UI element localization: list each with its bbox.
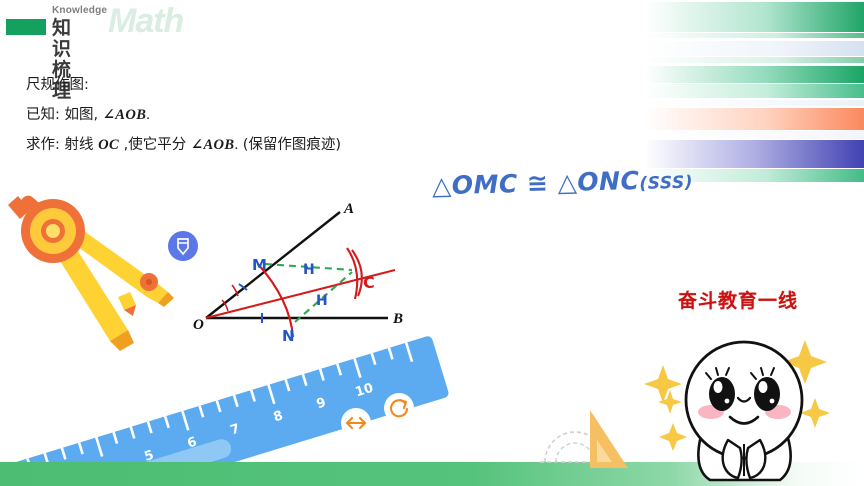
mascot-blush-left [698, 405, 724, 419]
pencil-icon [178, 239, 188, 254]
mascot-mouth [730, 417, 758, 424]
sparkle-icon [800, 398, 830, 428]
brand-text: 奋斗教育一线 [678, 286, 798, 313]
compass-hinge-center [46, 224, 60, 238]
gradient-bar [645, 57, 864, 63]
compass-hinge-outer [21, 199, 85, 263]
construct-body-2: ,使它平分 [124, 137, 187, 153]
given-period: . [146, 107, 150, 123]
protractor-outline [545, 432, 605, 462]
compass-right-knob-center [146, 279, 152, 285]
lesson-line-2: 已知: 如图, ∠AOB. [26, 100, 486, 130]
ray-oc-bisector [206, 270, 395, 318]
ruler-rotate-button[interactable] [384, 393, 414, 423]
tick-label-lower: H [316, 293, 328, 309]
compass-pencil-tip [124, 305, 136, 316]
mascot-eye-shine-left [714, 381, 723, 393]
segment-mc-dashed [265, 264, 352, 270]
ruler-number: 9 [315, 395, 328, 412]
segment-nc-dashed [295, 272, 352, 322]
angle-mark-lower [222, 300, 228, 311]
ray-oa [206, 212, 340, 318]
lesson-line-1: 尺规作图: [26, 70, 486, 100]
mascot-eye-dot-left [725, 399, 730, 404]
label-c: C [363, 273, 375, 292]
gradient-bar [645, 33, 864, 38]
construct-angle: ∠AOB [191, 137, 235, 153]
construct-body-1: 射线 [65, 137, 94, 153]
resize-button-bg[interactable] [341, 408, 371, 438]
label-b: B [392, 311, 403, 327]
watermark-text: Math [108, 4, 183, 38]
mascot-lashes [706, 368, 774, 379]
badge-circle[interactable] [168, 231, 198, 261]
ruler-number: 10 [353, 381, 375, 401]
gradient-bar [645, 131, 864, 139]
label-a: A [343, 201, 354, 217]
arc-from-n [347, 248, 357, 299]
gradient-bar [645, 100, 864, 106]
ruler-number: 6 [186, 435, 199, 452]
compass-legs [8, 193, 174, 351]
gradient-bar [645, 84, 864, 98]
congruent-symbol: ≅ [527, 168, 549, 198]
header-eyebrow: Knowledge [52, 6, 107, 16]
compass-leg-right [52, 221, 158, 297]
mascot-nose [738, 398, 750, 402]
sparkle-icon [659, 423, 687, 451]
triangle-two: △ONC [557, 166, 639, 197]
mascot-eye-shine-right [759, 381, 768, 393]
sparkle-icon [644, 365, 682, 403]
sparkle-icon [658, 390, 682, 414]
given-label: 已知: [26, 107, 60, 123]
construct-ray: OC [98, 137, 119, 153]
resize-arrows-icon [347, 418, 365, 428]
mascot-head [686, 342, 802, 458]
arc-from-vertex [258, 264, 293, 337]
ruler-number: 7 [229, 421, 242, 438]
set-square-cutout [597, 440, 612, 462]
rotate-button-bg[interactable] [384, 393, 414, 423]
gradient-bar [645, 140, 864, 168]
given-angle: ∠AOB [103, 107, 147, 123]
angle-mark-upper [232, 285, 238, 296]
mascot-eye-left [709, 377, 735, 411]
tick-om [239, 284, 247, 290]
slide-canvas: Math Knowledge 知识梳理 尺规作图: 已知: 如图, ∠AOB. … [0, 0, 864, 486]
ruler-number: 8 [272, 408, 285, 425]
compass-top-grip [8, 196, 30, 219]
header-accent-bar [6, 19, 46, 35]
sparkles [644, 340, 830, 451]
gradient-bar [645, 2, 864, 32]
footer-band [0, 462, 864, 486]
protractor-inner-arc [556, 443, 594, 462]
mascot-blush-right [765, 405, 791, 419]
congruence-reason: (SSS) [639, 173, 693, 194]
label-o: O [193, 317, 204, 333]
set-square-body[interactable] [590, 410, 628, 468]
compass-pencil-body [118, 292, 136, 310]
rotate-icon-arrow [400, 400, 406, 408]
construct-note: (保留作图痕迹) [243, 137, 341, 153]
decorative-gradient-bars [645, 0, 864, 182]
lesson-text-block: 尺规作图: 已知: 如图, ∠AOB. 求作: 射线 OC ,使它平分 ∠AOB… [26, 70, 486, 160]
rotate-icon [391, 400, 407, 416]
ruler-resize-button[interactable] [341, 408, 371, 438]
construct-period: . [234, 137, 238, 153]
sparkle-icon [783, 340, 827, 384]
compass-hinge-inner [41, 219, 65, 243]
construct-label: 求作: [26, 137, 60, 153]
triangle-one: △OMC [432, 169, 518, 200]
arc-from-m [352, 250, 362, 296]
gradient-bar [645, 66, 864, 83]
mascot-eye-dot-right [770, 399, 775, 404]
compass-leg-right-lower [147, 284, 168, 303]
compass-handle [18, 193, 54, 227]
compass-hinge-mid [30, 208, 76, 254]
lesson-line-3: 求作: 射线 OC ,使它平分 ∠AOB. (保留作图痕迹) [26, 130, 486, 160]
tick-label-upper: H [303, 262, 315, 278]
compass-leg-left-tip [110, 330, 134, 351]
given-body: 如图, [65, 107, 99, 123]
gradient-bar [645, 41, 864, 56]
label-n: N [282, 327, 295, 345]
handwritten-annotation: △OMC ≅ △ONC(SSS) [432, 165, 694, 201]
compass-leg-left [42, 226, 128, 341]
mascot-body [686, 342, 802, 480]
mascot-eye-right [754, 377, 780, 411]
gradient-bar [645, 108, 864, 130]
compass-needle-tip [158, 292, 174, 307]
label-m: M [252, 256, 267, 274]
compass-right-knob [140, 273, 158, 291]
